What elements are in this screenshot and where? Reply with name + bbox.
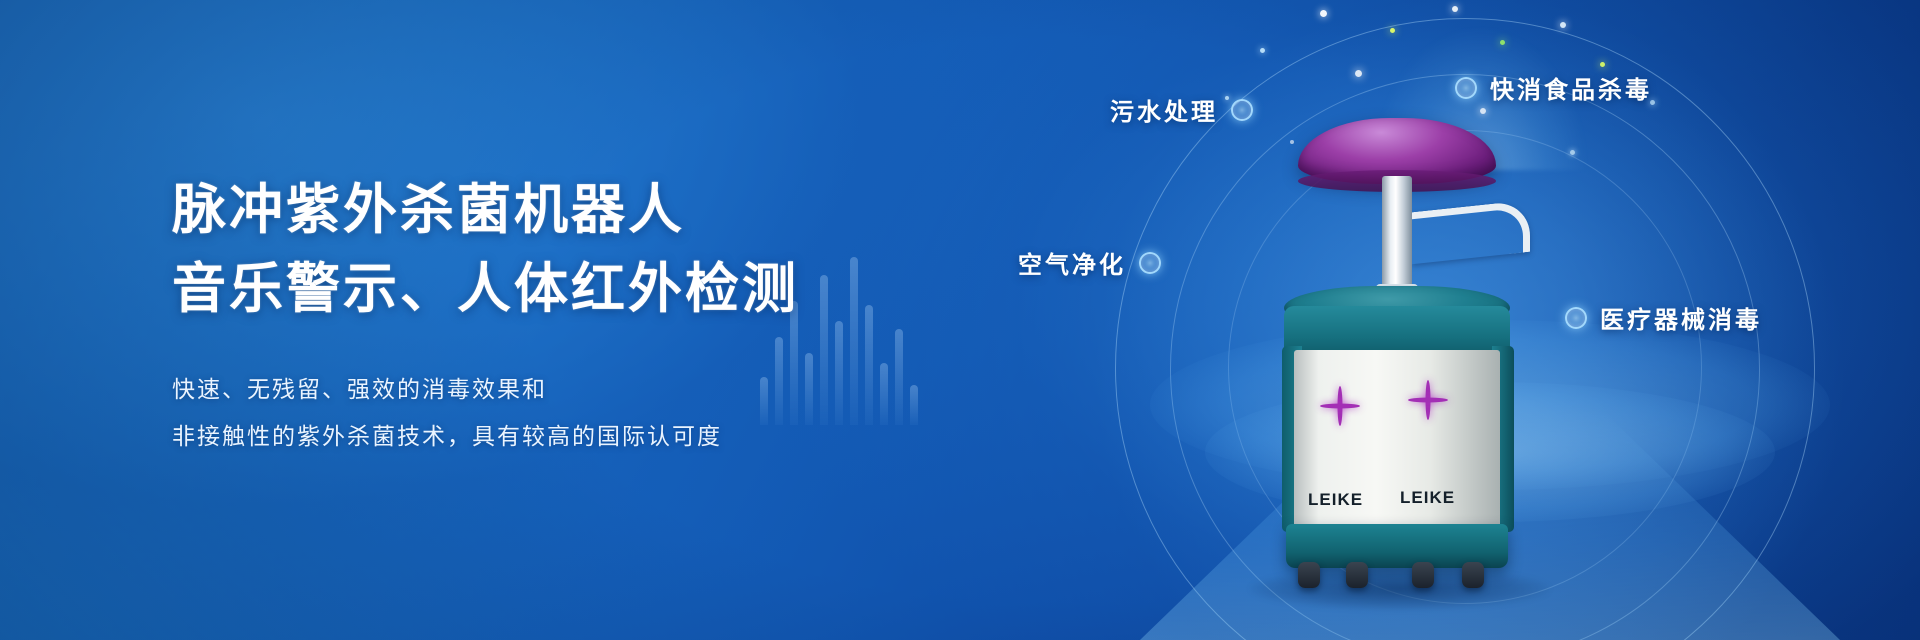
sparkle-particle [1480, 108, 1486, 114]
sparkle-star-icon [1320, 386, 1360, 426]
callout-label: 污水处理 [1110, 92, 1218, 127]
node-marker-icon [1139, 252, 1161, 274]
caster-wheel [1298, 562, 1320, 588]
headline-line-1: 脉冲紫外杀菌机器人 [172, 175, 932, 246]
callout-fmcg-food-disinfection[interactable]: 快消食品杀毒 [1455, 70, 1652, 105]
callout-medical-device-disinfection[interactable]: 医疗器械消毒 [1565, 300, 1762, 335]
sparkle-particle [1570, 150, 1575, 155]
subtitle-line-2: 非接触性的紫外杀菌技术，具有较高的国际认可度 [172, 413, 932, 460]
callout-waste-water-treatment[interactable]: 污水处理 [1110, 92, 1253, 127]
sparkle-particle [1355, 70, 1362, 77]
sparkle-particle [1500, 40, 1505, 45]
headline-block: 脉冲紫外杀菌机器人 音乐警示、人体红外检测 快速、无残留、强效的消毒效果和 非接… [172, 175, 932, 460]
caster-wheel [1462, 562, 1484, 588]
node-marker-icon [1455, 77, 1477, 99]
node-marker-icon [1231, 99, 1253, 121]
subtitle-line-1: 快速、无残留、强效的消毒效果和 [172, 366, 932, 413]
brand-label-left: LEIKE [1308, 490, 1363, 510]
callout-label: 空气净化 [1018, 245, 1126, 280]
callout-label: 快消食品杀毒 [1490, 70, 1652, 105]
lamp-pole [1382, 176, 1412, 296]
node-marker-icon [1565, 307, 1587, 329]
subtitle-block: 快速、无残留、强效的消毒效果和 非接触性的紫外杀菌技术，具有较高的国际认可度 [172, 366, 932, 460]
brand-label-right: LEIKE [1400, 488, 1455, 508]
sparkle-star-icon [1408, 380, 1448, 420]
sparkle-particle [1320, 10, 1327, 17]
sparkle-particle [1452, 6, 1458, 12]
sparkle-particle [1600, 62, 1605, 67]
headline-line-2: 音乐警示、人体红外检测 [172, 254, 932, 325]
caster-wheel [1346, 562, 1368, 588]
callout-label: 医疗器械消毒 [1600, 300, 1762, 335]
sparkle-particle [1560, 22, 1566, 28]
promo-banner: 脉冲紫外杀菌机器人 音乐警示、人体红外检测 快速、无残留、强效的消毒效果和 非接… [0, 0, 1920, 640]
uv-disinfection-robot: LEIKE LEIKE [1272, 118, 1522, 588]
sparkle-particle [1260, 48, 1265, 53]
sparkle-particle [1390, 28, 1395, 33]
callout-air-purification[interactable]: 空气净化 [1018, 245, 1161, 280]
push-handle [1412, 200, 1530, 264]
caster-wheel [1412, 562, 1434, 588]
